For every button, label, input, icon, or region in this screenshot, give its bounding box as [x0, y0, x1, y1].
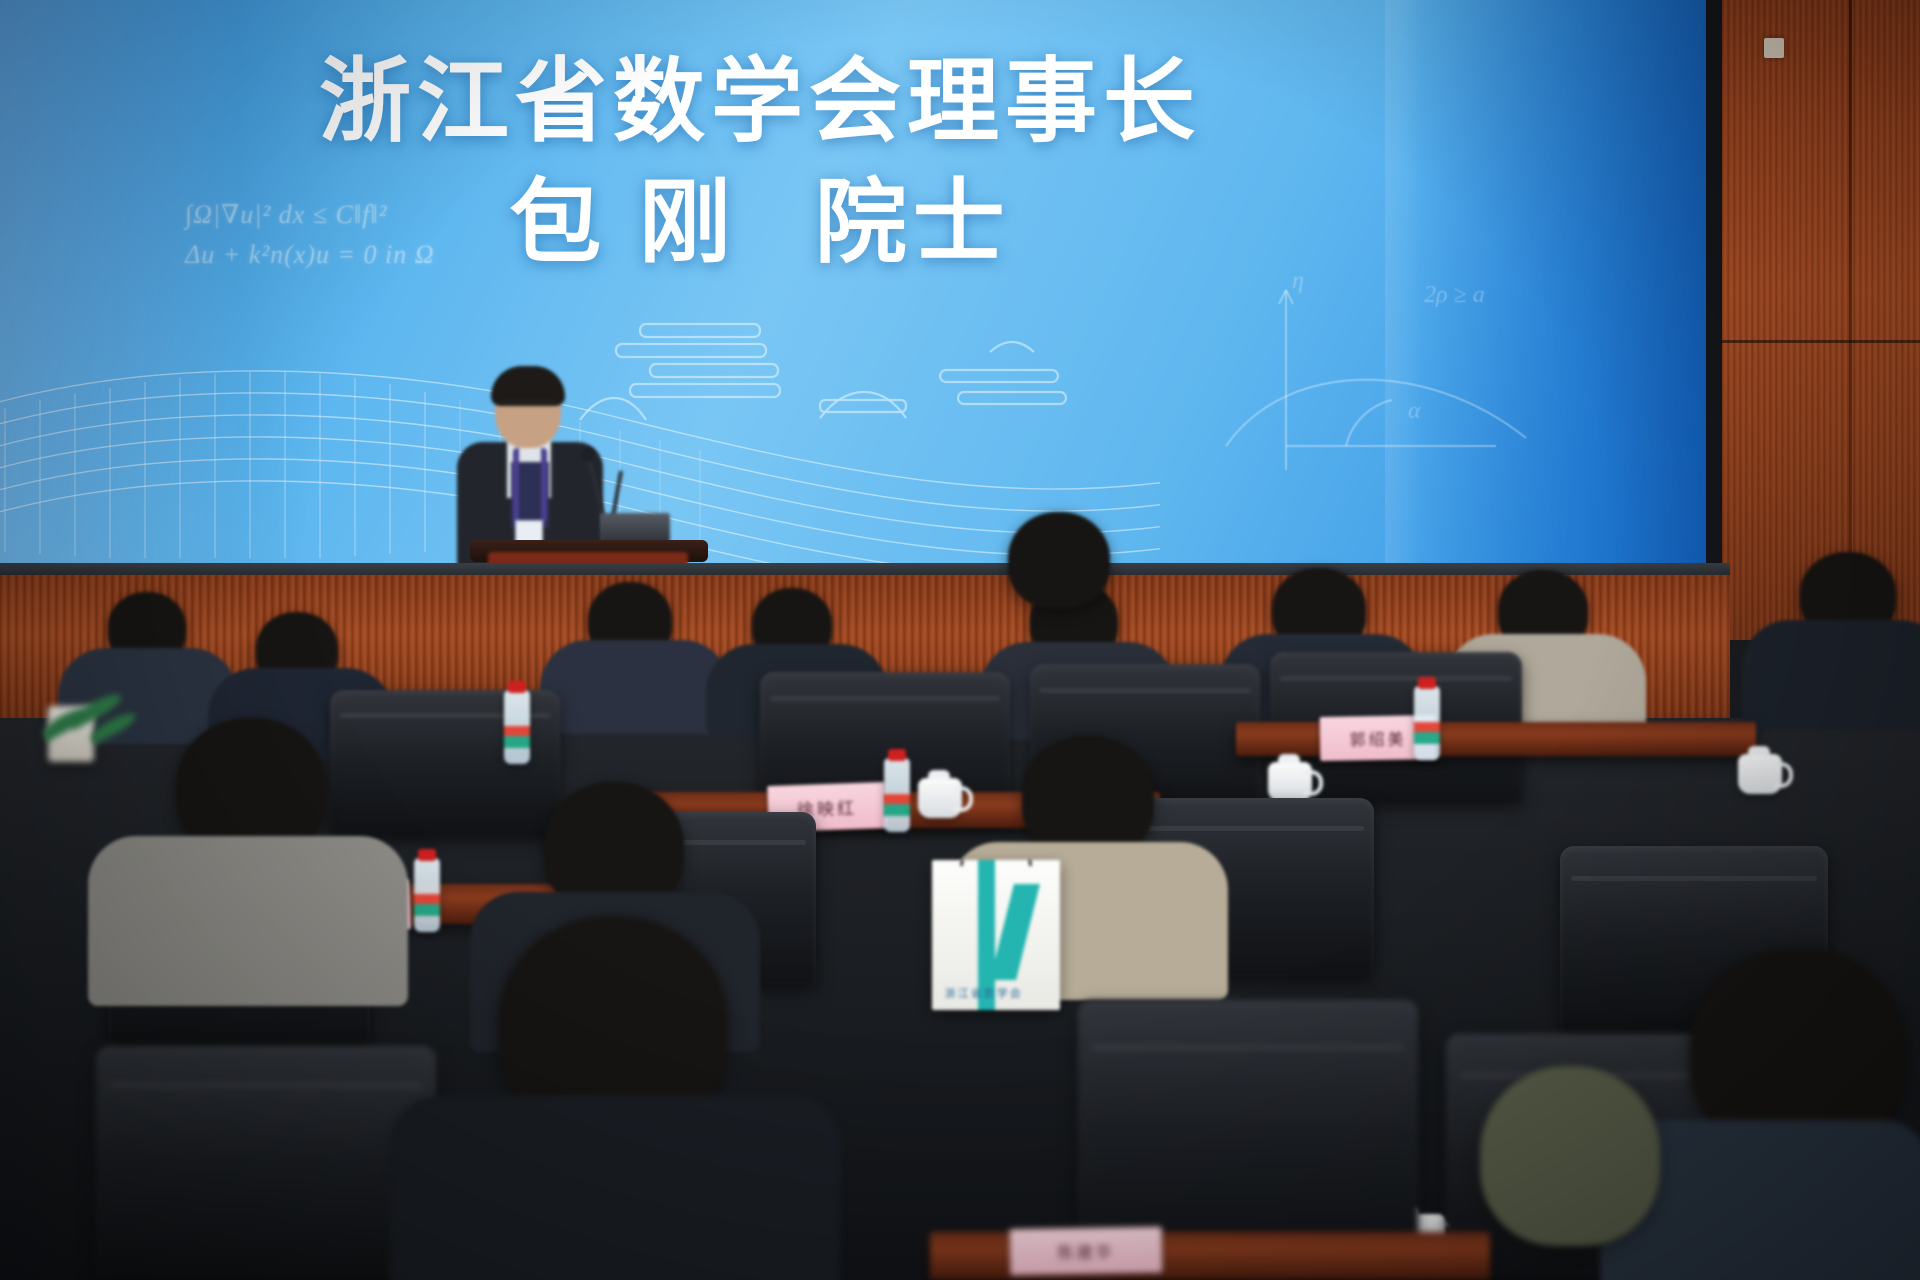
slide-title-block: 浙江省数学会理事长 包 刚院士 — [0, 48, 1520, 290]
audience-shoulders — [1742, 620, 1920, 730]
conference-table — [1236, 722, 1756, 756]
gift-bag-accent-stripe — [990, 884, 1040, 980]
plant-decoration — [40, 700, 150, 744]
slide-title-line1: 浙江省数学会理事长 — [0, 48, 1520, 157]
slide-speaker-name: 包 刚 — [509, 172, 737, 274]
tea-pot — [1738, 754, 1782, 794]
gift-bag-text: 浙江省数学会 — [945, 985, 1023, 1001]
speaker-lanyard — [513, 448, 547, 522]
city-skyline-line-art — [520, 300, 1100, 440]
tea-pot — [1268, 762, 1312, 802]
slide-title-line2: 包 刚院士 — [0, 157, 1520, 290]
wood-panel-wall-right — [1722, 0, 1920, 640]
table-name-card: 陈建华 — [1010, 1227, 1163, 1276]
gift-bag: 浙江省数学会 — [932, 860, 1060, 1010]
water-bottle — [1414, 686, 1440, 760]
audience-shoulders — [390, 1096, 840, 1280]
water-bottle — [884, 758, 910, 832]
panel-seam — [1722, 340, 1920, 343]
wall-switch-plate-icon — [1764, 38, 1784, 58]
speaker-glasses-icon — [500, 400, 556, 410]
projection-screen-frame: ∫Ω|∇u|² dx ≤ C‖f‖² Δu + k²n(x)u = 0 in Ω… — [0, 0, 1722, 586]
auditorium-seat — [96, 1046, 436, 1280]
conference-hall-photo: ∫Ω|∇u|² dx ≤ C‖f‖² Δu + k²n(x)u = 0 in Ω… — [0, 0, 1920, 1280]
water-bottle — [414, 858, 440, 932]
audience-head — [1480, 1066, 1660, 1246]
audience-shoulders — [88, 836, 408, 1006]
audience-shoulders — [540, 640, 730, 734]
gift-bag-handle — [960, 860, 1032, 866]
math-angle-label: α — [1408, 398, 1421, 425]
water-bottle — [504, 690, 530, 764]
audience-head — [1008, 512, 1110, 608]
projection-screen: ∫Ω|∇u|² dx ≤ C‖f‖² Δu + k²n(x)u = 0 in Ω… — [0, 0, 1706, 572]
slide-speaker-title: 院士 — [815, 172, 1011, 274]
tea-pot — [918, 778, 962, 818]
